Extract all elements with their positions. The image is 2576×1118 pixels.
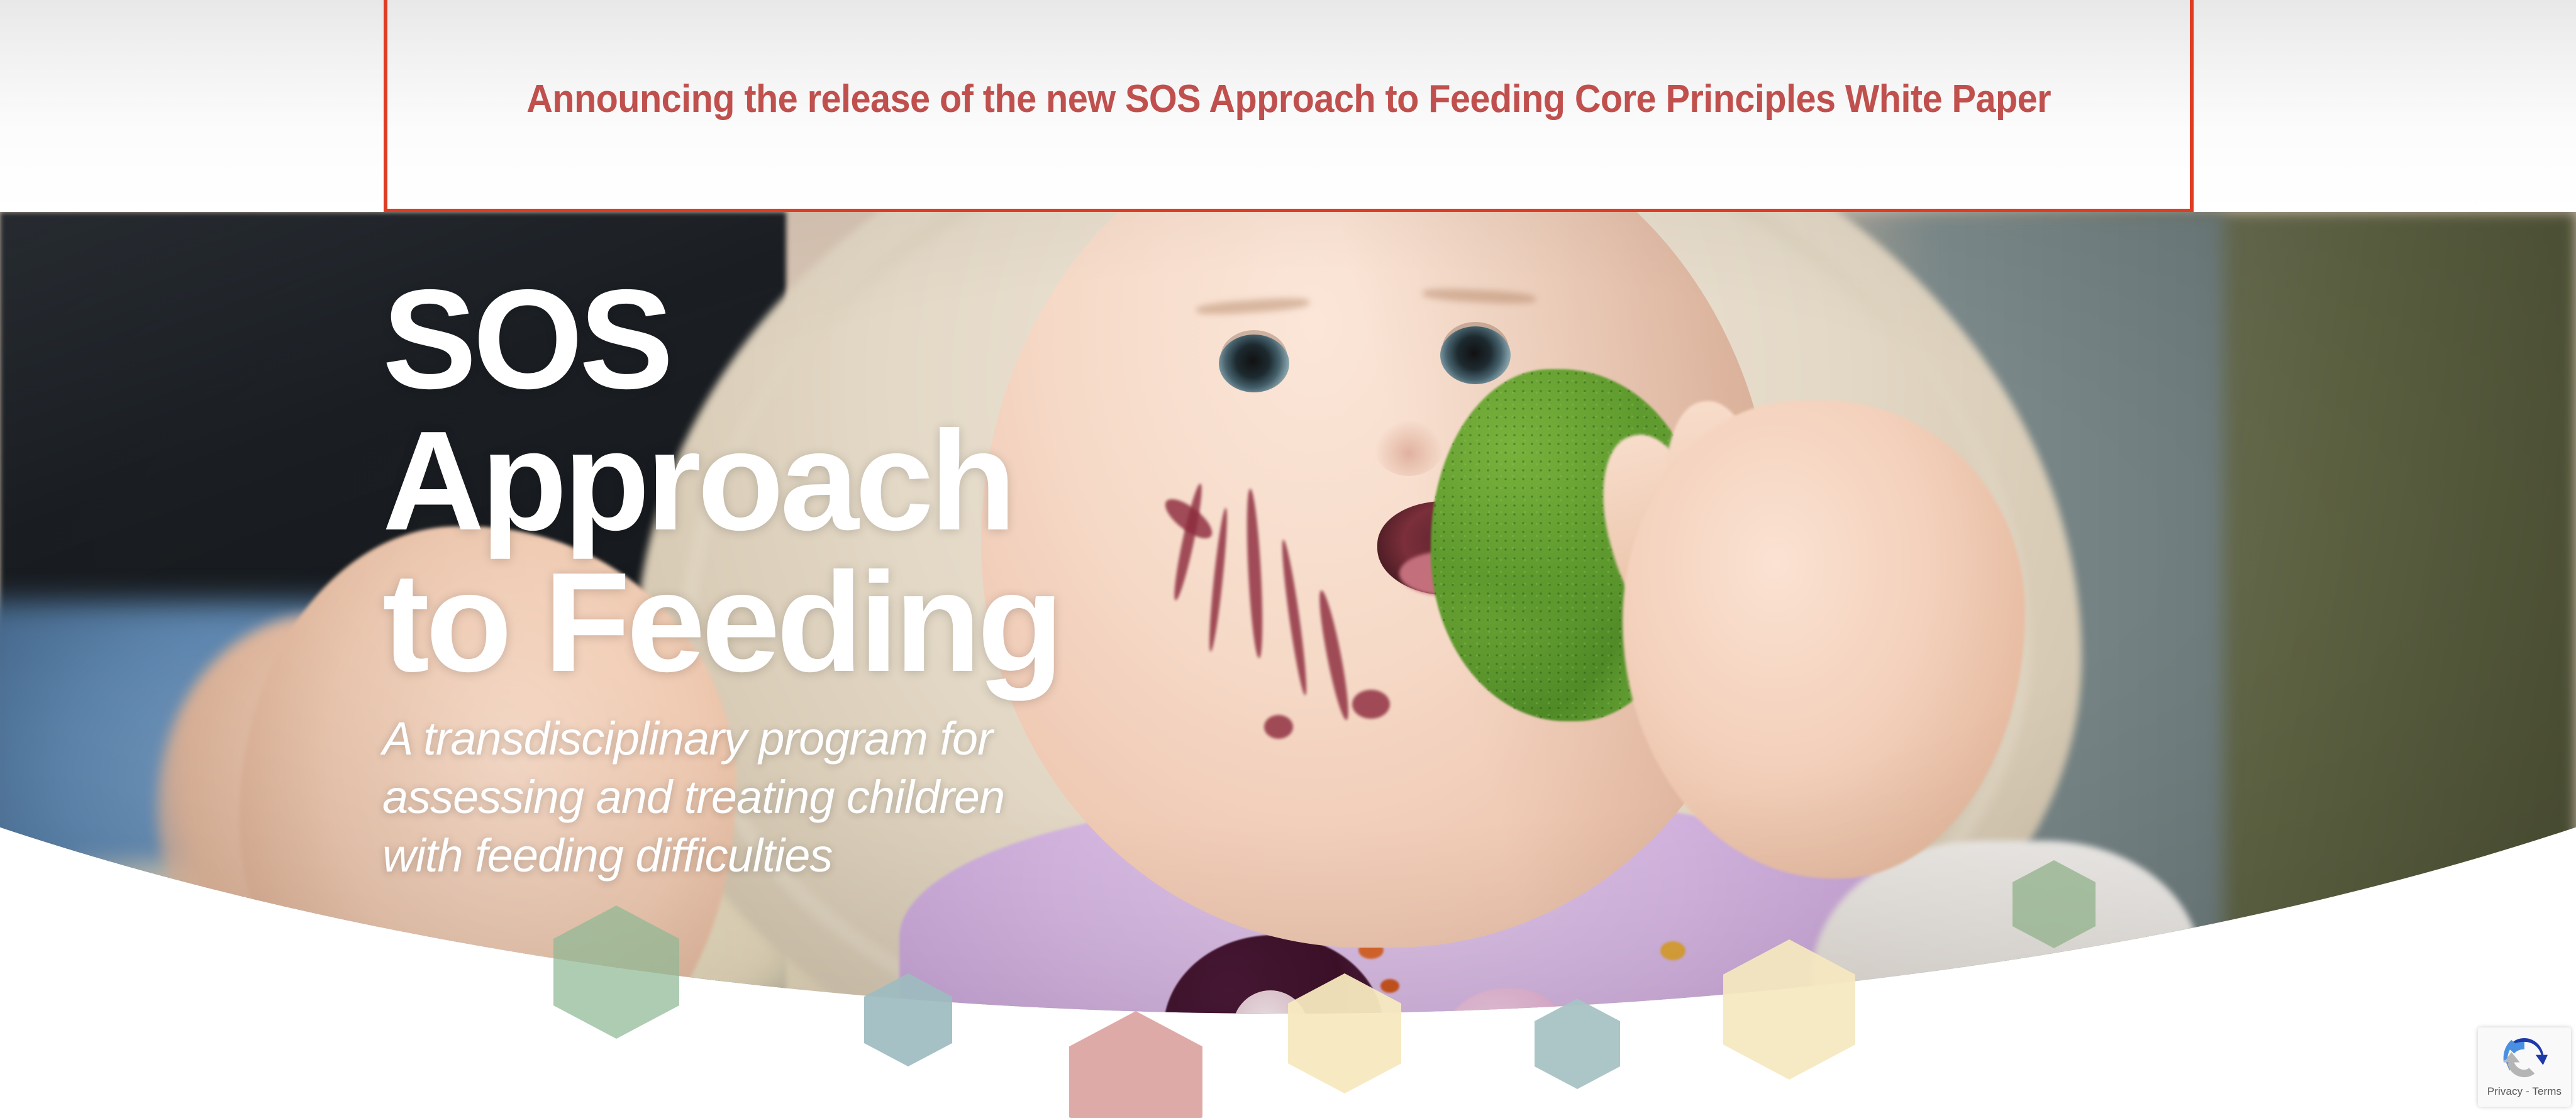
announcement-banner[interactable]: Announcing the release of the new SOS Ap… xyxy=(384,0,2194,213)
berry-stain xyxy=(1352,690,1390,719)
food-crumb xyxy=(1380,979,1399,993)
recaptcha-icon xyxy=(2501,1036,2548,1083)
hero-copy: SOS Approach to Feeding A transdisciplin… xyxy=(382,268,1137,885)
photo-baby-eye-right xyxy=(1440,326,1511,384)
photo-baby-nose xyxy=(1374,419,1443,476)
photo-baby-eye-left xyxy=(1219,335,1289,392)
hero-title-line-2: Approach xyxy=(382,410,1137,551)
food-crumb xyxy=(1660,941,1685,960)
page-root: Announcing the release of the new SOS Ap… xyxy=(0,0,2576,1118)
hero-title-line-3: to Feeding xyxy=(382,551,1137,693)
berry-stain xyxy=(1264,715,1293,739)
hexagon-pink-center xyxy=(1069,1011,1202,1118)
hero-subtitle: A transdisciplinary program for assessin… xyxy=(382,709,1062,885)
recaptcha-badge[interactable]: Privacy - Terms xyxy=(2478,1027,2571,1107)
hero-section: SOS Approach to Feeding A transdisciplin… xyxy=(0,212,2576,1118)
announcement-link[interactable]: Announcing the release of the new SOS Ap… xyxy=(526,77,2051,121)
page-title: SOS Approach to Feeding xyxy=(382,268,1137,693)
recaptcha-privacy-terms[interactable]: Privacy - Terms xyxy=(2487,1085,2562,1098)
hexagon-blue-right xyxy=(1535,999,1620,1089)
hero-title-line-1: SOS xyxy=(382,268,1137,410)
